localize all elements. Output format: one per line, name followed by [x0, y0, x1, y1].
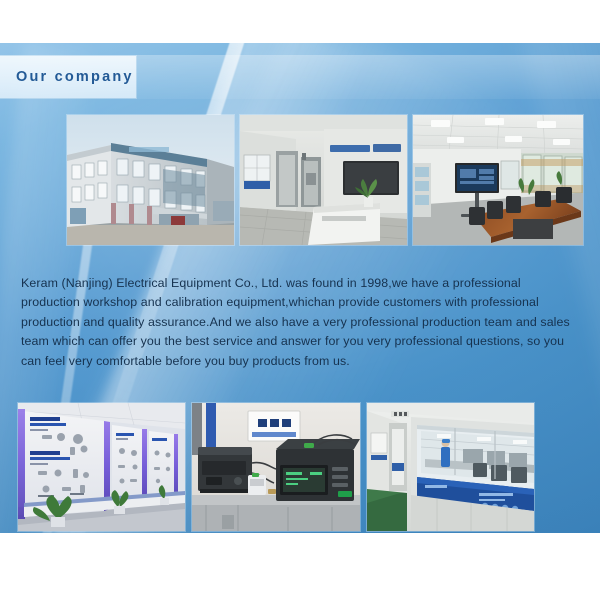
photo-clean-room	[367, 403, 534, 531]
photo-reception-lobby	[240, 115, 407, 245]
photo-office-building	[67, 115, 234, 245]
company-slide: Our company	[0, 43, 600, 533]
photo-calibration-lab	[192, 403, 360, 531]
company-description: Keram (Nanjing) Electrical Equipment Co.…	[21, 274, 577, 371]
slide-canvas: Our company	[0, 0, 600, 600]
page-title: Our company	[16, 69, 134, 85]
photo-meeting-room	[413, 115, 583, 245]
photo-product-showroom	[18, 403, 185, 531]
title-plate: Our company	[0, 56, 136, 98]
